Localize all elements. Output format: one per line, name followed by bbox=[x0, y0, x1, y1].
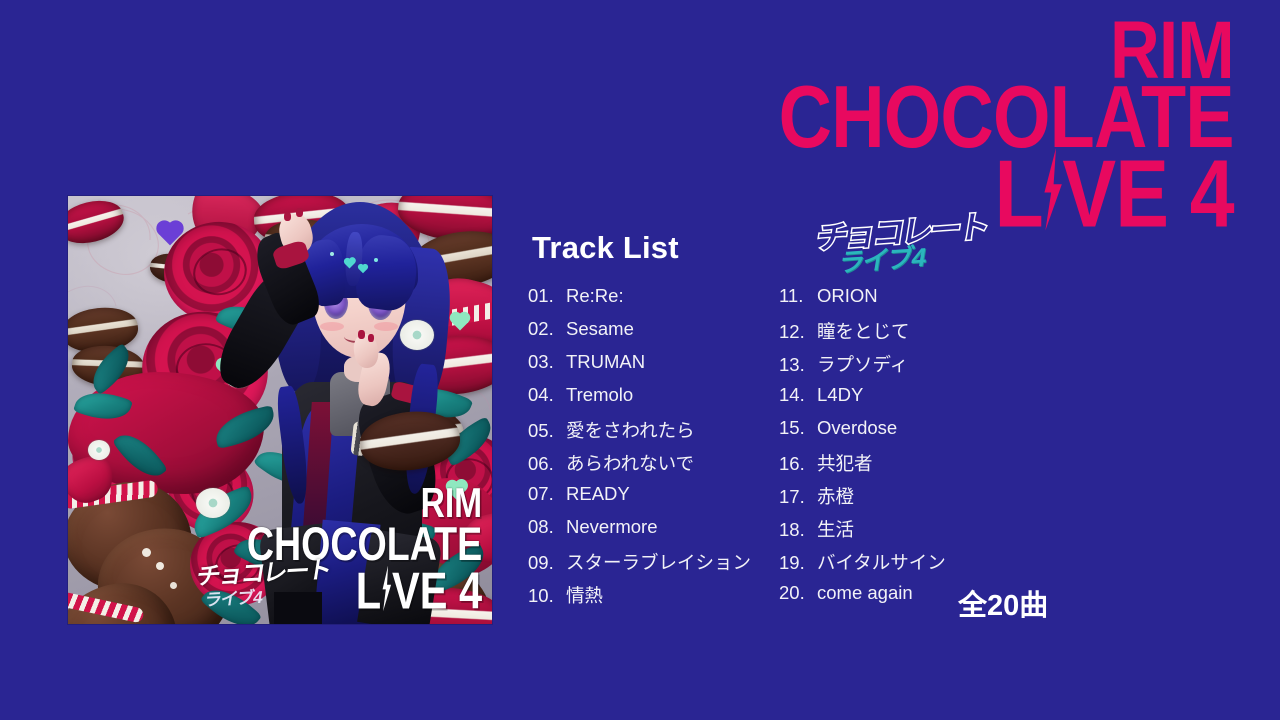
track-row: 02.Sesame bbox=[528, 318, 751, 351]
track-number: 05. bbox=[528, 420, 564, 442]
album-cover-artwork: チョコレート ライブ4 RIM CHOCOLATE LVE 4 bbox=[68, 196, 492, 624]
track-number: 09. bbox=[528, 552, 564, 574]
cover-illustration: チョコレート ライブ4 RIM CHOCOLATE LVE 4 bbox=[68, 196, 492, 624]
track-title: 情熱 bbox=[564, 582, 603, 608]
track-row: 17.赤橙 bbox=[779, 483, 946, 516]
white-flower-2 bbox=[196, 488, 230, 518]
track-row: 04.Tremolo bbox=[528, 384, 751, 417]
track-row: 12.瞳をとじて bbox=[779, 318, 946, 351]
track-row: 07.READY bbox=[528, 483, 751, 516]
track-number: 12. bbox=[779, 321, 815, 343]
track-row: 01.Re:Re: bbox=[528, 285, 751, 318]
track-column-left: 01.Re:Re: 02.Sesame 03.TRUMAN 04.Tremolo… bbox=[528, 285, 751, 615]
track-column-right: 11.ORION 12.瞳をとじて 13.ラプソディ 14.L4DY 15.Ov… bbox=[779, 285, 946, 615]
track-title: Re:Re: bbox=[564, 285, 624, 307]
track-title: Tremolo bbox=[564, 384, 633, 406]
character-nail-4 bbox=[368, 334, 374, 342]
track-row: 14.L4DY bbox=[779, 384, 946, 417]
character-boot-left bbox=[274, 592, 322, 624]
track-row: 09.スターラブレイション bbox=[528, 549, 751, 582]
track-number: 02. bbox=[528, 318, 564, 340]
track-title: Sesame bbox=[564, 318, 634, 340]
tracklist-section: Track List 01.Re:Re: 02.Sesame 03.TRUMAN… bbox=[528, 232, 948, 615]
chocolate-dot-3 bbox=[170, 582, 177, 589]
track-number: 13. bbox=[779, 354, 815, 376]
track-title: READY bbox=[564, 483, 630, 505]
track-title: ラプソディ bbox=[815, 351, 908, 377]
track-number: 10. bbox=[528, 585, 564, 607]
track-title: 共犯者 bbox=[815, 450, 873, 476]
track-title: スターラブレイション bbox=[564, 549, 751, 575]
main-jp-subtitle-logo: チョコレート ライブ4 bbox=[804, 197, 1020, 291]
character-blush-right bbox=[374, 322, 398, 331]
hair-sparkle-4 bbox=[330, 252, 334, 256]
track-number: 06. bbox=[528, 453, 564, 475]
track-title: Overdose bbox=[815, 417, 897, 439]
track-title: 赤橙 bbox=[815, 483, 854, 509]
track-row: 19.バイタルサイン bbox=[779, 549, 946, 582]
character-nail-3 bbox=[358, 330, 365, 339]
track-title: バイタルサイン bbox=[815, 549, 946, 575]
track-title: あらわれないで bbox=[564, 450, 694, 476]
track-row: 13.ラプソディ bbox=[779, 351, 946, 384]
track-title: TRUMAN bbox=[564, 351, 645, 373]
track-row: 03.TRUMAN bbox=[528, 351, 751, 384]
chocolate-dot-1 bbox=[142, 548, 151, 557]
chocolate-dot-2 bbox=[156, 562, 164, 570]
track-columns: 01.Re:Re: 02.Sesame 03.TRUMAN 04.Tremolo… bbox=[528, 285, 948, 615]
track-number: 07. bbox=[528, 483, 564, 505]
track-title: L4DY bbox=[815, 384, 863, 406]
track-row: 06.あらわれないで bbox=[528, 450, 751, 483]
hair-flower bbox=[400, 320, 434, 350]
track-number: 15. bbox=[779, 417, 815, 439]
character-nail-1 bbox=[284, 212, 291, 221]
track-row: 05.愛をさわれたら bbox=[528, 417, 751, 450]
track-title: 生活 bbox=[815, 516, 854, 542]
track-row: 15.Overdose bbox=[779, 417, 946, 450]
track-title: 愛をさわれたら bbox=[564, 417, 695, 443]
track-row: 20.come again bbox=[779, 582, 946, 615]
track-number: 16. bbox=[779, 453, 815, 475]
main-jp-bottom: ライブ4 bbox=[836, 237, 928, 280]
track-number: 20. bbox=[779, 582, 815, 604]
track-number: 14. bbox=[779, 384, 815, 406]
character-blush-left bbox=[320, 322, 344, 331]
main-logo-live-suffix: VE 4 bbox=[1063, 141, 1234, 248]
lightning-bolt-icon bbox=[1041, 148, 1065, 231]
track-row: 16.共犯者 bbox=[779, 450, 946, 483]
track-number: 03. bbox=[528, 351, 564, 373]
track-title: Nevermore bbox=[564, 516, 658, 538]
track-number: 19. bbox=[779, 552, 815, 574]
track-row: 10.情熱 bbox=[528, 582, 751, 615]
track-number: 08. bbox=[528, 516, 564, 538]
character-nail-2 bbox=[296, 208, 303, 217]
track-number: 04. bbox=[528, 384, 564, 406]
total-songs-label: 全20曲 bbox=[958, 582, 1048, 624]
track-title: 瞳をとじて bbox=[815, 318, 910, 344]
track-number: 01. bbox=[528, 285, 564, 307]
hair-sparkle-3 bbox=[374, 258, 378, 262]
track-number: 18. bbox=[779, 519, 815, 541]
track-row: 18.生活 bbox=[779, 516, 946, 549]
character-coat-tail-right bbox=[357, 529, 443, 624]
track-row: 08.Nevermore bbox=[528, 516, 751, 549]
track-title: come again bbox=[815, 582, 913, 604]
slide-canvas: チョコレート ライブ4 RIM CHOCOLATE LVE 4 Track Li… bbox=[0, 0, 1280, 720]
white-flower-3 bbox=[88, 440, 110, 460]
track-number: 17. bbox=[779, 486, 815, 508]
